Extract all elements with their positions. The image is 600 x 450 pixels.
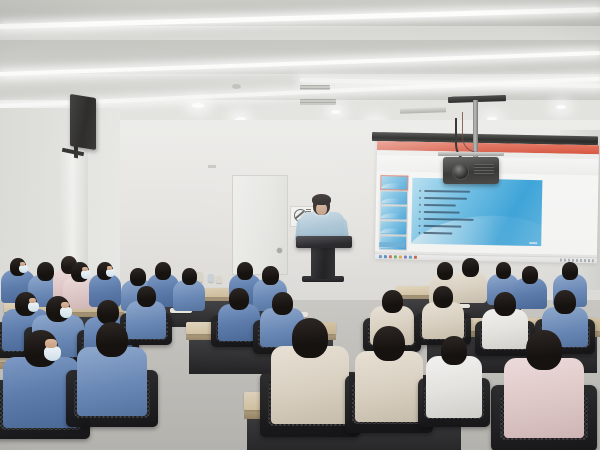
taskbar-icon[interactable] (414, 256, 417, 259)
attendee-head (96, 322, 128, 357)
door-handle[interactable] (277, 248, 282, 253)
slide-bullet-line (424, 218, 474, 221)
thumbnail-wave (381, 213, 407, 218)
audience-attendee (268, 318, 352, 422)
thumbnail-wave (381, 183, 407, 188)
attendee-head (262, 266, 279, 285)
desk-item-cup (216, 276, 222, 283)
attendee-head (382, 290, 403, 313)
face-mask (106, 269, 114, 276)
current-slide (411, 178, 542, 246)
lectern-body (311, 246, 335, 279)
slide-thumbnail[interactable] (380, 175, 408, 191)
taskbar-icon[interactable] (379, 255, 382, 258)
taskbar-icon[interactable] (394, 255, 397, 258)
attendee-head (496, 262, 511, 279)
lectern[interactable] (296, 236, 352, 248)
slide-bullet-marker (418, 225, 420, 227)
slide-bullet-line (424, 211, 460, 214)
attendee-head (155, 262, 171, 280)
attendee-torso (504, 358, 585, 438)
slide-thumbnail[interactable] (379, 220, 407, 236)
presenter-hair (312, 194, 331, 205)
attendee-torso (271, 346, 348, 424)
attendee-face (45, 339, 57, 348)
slide-bullet-line (423, 225, 461, 228)
smoke-detector (232, 84, 241, 89)
taskbar-icon[interactable] (389, 255, 392, 258)
attendee-head (373, 326, 405, 361)
audience-attendee (500, 330, 588, 436)
audience-attendee (352, 326, 426, 420)
attendee-torso (355, 351, 423, 422)
recessed-downlight (331, 110, 341, 114)
taskbar-icon[interactable] (404, 256, 407, 259)
thumbnail-wave (381, 198, 407, 203)
attendee-torso (77, 347, 147, 416)
air-conditioning-vent (300, 99, 336, 105)
audience-attendee (420, 286, 466, 338)
taskbar-icon[interactable] (409, 256, 412, 259)
attendee-head (433, 286, 453, 308)
slide-bullet-marker (419, 190, 421, 192)
attendee-head (137, 286, 156, 307)
slide-bullet-marker (419, 218, 421, 220)
audience-attendee (172, 268, 206, 310)
slide-bullet-line (424, 197, 467, 200)
room-door[interactable] (232, 175, 288, 275)
attendee-head (97, 300, 119, 324)
projector-vent (474, 164, 494, 176)
taskbar-icon[interactable] (399, 255, 402, 258)
attendee-head (437, 262, 453, 280)
wall-marking (208, 165, 216, 168)
attendee-head (526, 330, 562, 370)
attendee-head (494, 292, 516, 316)
thumbnail-wave (380, 228, 406, 233)
attendee-head (562, 262, 578, 280)
slide-bullet-marker (418, 232, 420, 234)
desk-item-bottle (208, 274, 214, 282)
attendee-head (554, 290, 576, 314)
projector-lens (452, 163, 469, 180)
recessed-downlight (192, 103, 204, 108)
slide-page-marker (529, 242, 537, 244)
slide-bullet-line (424, 190, 470, 193)
attendee-head (292, 318, 328, 358)
attendee-head (441, 336, 467, 365)
attendee-head (130, 268, 146, 286)
projector-cable (462, 112, 481, 153)
slide-bullet-line (424, 204, 456, 207)
slide-thumbnail[interactable] (380, 205, 408, 221)
attendee-head (462, 258, 479, 277)
recessed-downlight (556, 105, 566, 109)
training-room-photo (0, 0, 600, 450)
attendee-head (522, 266, 538, 284)
audience-attendee (424, 336, 484, 416)
projector-bracket (438, 152, 504, 156)
slide-bullet-marker (419, 197, 421, 199)
attendee-head (182, 268, 197, 285)
wall-mounted-speaker (70, 94, 96, 150)
slide-thumbnail[interactable] (380, 190, 408, 206)
slide-bullet-marker (419, 204, 421, 206)
air-conditioning-vent (300, 85, 330, 90)
slide-thumbnail-footer (379, 242, 405, 247)
attendee-head (237, 262, 253, 280)
attendee-head (272, 292, 293, 315)
attendee-head (37, 262, 54, 281)
attendee-head (229, 288, 249, 310)
audience-attendee (74, 322, 150, 414)
taskbar-icon[interactable] (384, 255, 387, 258)
slide-bullet-marker (419, 211, 421, 213)
attendee-torso (426, 356, 481, 417)
